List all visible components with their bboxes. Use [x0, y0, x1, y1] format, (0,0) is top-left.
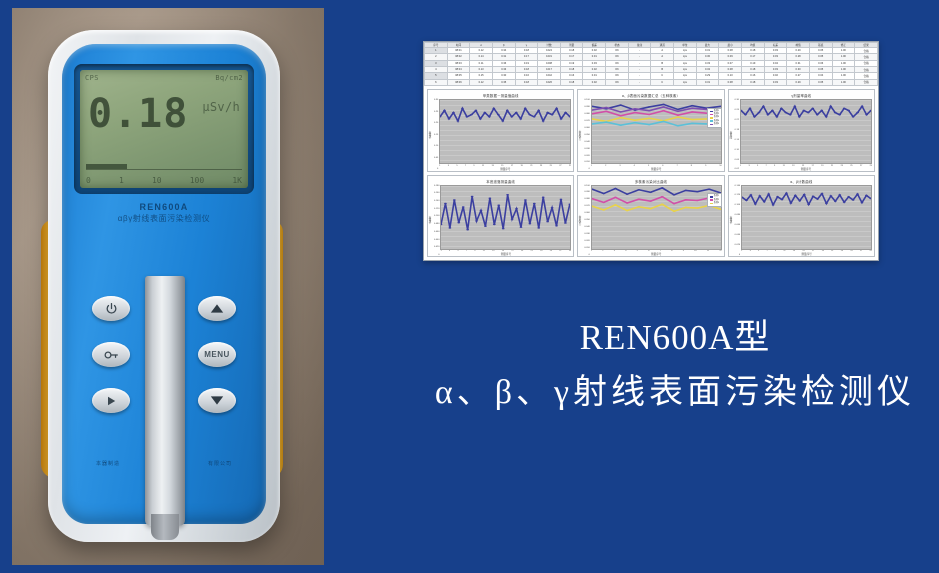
- chart-data-point: [785, 192, 788, 193]
- chart-data-point: [626, 209, 629, 210]
- chart-data-point: [564, 112, 567, 113]
- chart-x-axis-label: 测量序号: [740, 167, 872, 171]
- chart-data-point: [560, 198, 563, 199]
- table-cell: 0.05: [809, 79, 832, 85]
- chart-data-point: [834, 112, 837, 113]
- chart-y-tick: 0.080: [434, 223, 439, 225]
- chart-legend: 系列1系列2系列3: [707, 193, 722, 207]
- chart-data-point: [696, 190, 699, 191]
- device-mark-right: 有限公司: [208, 460, 232, 467]
- table-cell: 0.18: [741, 79, 764, 85]
- chart-y-tick: 0.30: [735, 99, 739, 101]
- chart-data-point: [602, 209, 605, 210]
- chart-data-point: [676, 109, 679, 110]
- chart-data-point: [458, 222, 461, 223]
- chart-data-point: [493, 223, 496, 224]
- chart-data-point: [649, 191, 652, 192]
- chart-y-tick: 0.040: [735, 234, 740, 236]
- chart-data-point: [502, 228, 505, 229]
- lcd-bargraph: [86, 165, 242, 170]
- chart-y-tick: 0.26: [735, 109, 739, 111]
- chart-data-point: [781, 198, 784, 199]
- chart-y-tick: 0.15: [434, 134, 438, 136]
- chart-series-line: [592, 117, 721, 121]
- chart-data-point: [649, 207, 652, 208]
- chart-data-point: [757, 112, 760, 113]
- chart-data-point: [648, 124, 651, 125]
- chart-data-point: [533, 116, 536, 117]
- chart-data-point: [619, 111, 622, 112]
- lcd-reading: 0.18: [88, 94, 188, 134]
- play-button[interactable]: [92, 388, 130, 413]
- chart-data-point: [533, 202, 536, 203]
- chart-y-tick: 0.100: [584, 99, 589, 101]
- up-button[interactable]: [198, 296, 236, 321]
- chart-data-point: [626, 193, 629, 194]
- chart-data-point: [691, 123, 694, 124]
- table-cell: cps: [674, 79, 697, 85]
- chart-y-tick: 0.080: [584, 113, 589, 115]
- lcd-screen: CPS Bq/cm2 0.18 μSv/h 0 1 10 100 1K: [80, 70, 248, 188]
- chart-data-point: [758, 195, 761, 196]
- chart-y-tick: 0: [434, 168, 438, 170]
- chart-y-tick: 0.060: [735, 224, 740, 226]
- chart-y-tick: 0.030: [584, 233, 589, 235]
- chart-plot-area: [591, 185, 722, 250]
- chart-data-point: [449, 227, 452, 228]
- chart-y-tick: 0.050: [584, 219, 589, 221]
- chart-y-tick: 0.20: [434, 122, 438, 124]
- chart-data-point: [763, 201, 766, 202]
- chart-data-point: [775, 116, 778, 117]
- device-photo: CPS Bq/cm2 0.18 μSv/h 0 1 10 100 1K REN6…: [12, 8, 324, 565]
- lcd-scale-tick: 0: [86, 176, 91, 185]
- chart-data-point: [484, 112, 487, 113]
- chart-bottom-left: 本底涨落测量曲线计数率0.1800.1600.1400.1200.1000.08…: [427, 175, 574, 258]
- chart-data-point: [830, 195, 833, 196]
- table-body: 108:010.120.340.1810240.180.02OK-Acps0.3…: [425, 48, 878, 86]
- software-screenshot-panel: 序号时间αβγ计数剂量偏差状态备注通道单位最大最小均值标差峰值基底修正结果 10…: [423, 41, 879, 261]
- chart-data-point: [662, 110, 665, 111]
- chart-data-point: [555, 108, 558, 109]
- chart-data-point: [633, 122, 636, 123]
- chart-data-point: [852, 116, 855, 117]
- chart-x-axis-label: 测量序号: [591, 252, 722, 256]
- chart-data-point: [672, 210, 675, 211]
- chart-data-point: [493, 108, 496, 109]
- chart-data-point: [506, 110, 509, 111]
- chart-data-point: [614, 187, 617, 188]
- chart-y-axis-label: 计数率: [429, 131, 433, 139]
- chart-legend-swatch: [710, 196, 713, 198]
- lcd-bezel: CPS Bq/cm2 0.18 μSv/h 0 1 10 100 1K: [74, 64, 254, 194]
- chart-y-tick: 0.020: [434, 246, 439, 248]
- caption-block: REN600A型 α、β、γ射线表面污染检测仪: [420, 316, 930, 416]
- lcd-scale-tick: 10: [152, 176, 162, 185]
- chart-y-tick: 0.06: [735, 159, 739, 161]
- chart-data-point: [780, 108, 783, 109]
- table-cell: 08:06: [447, 79, 470, 85]
- chart-data-point: [529, 223, 532, 224]
- chart-data-point: [766, 114, 769, 115]
- chart-data-point: [772, 204, 775, 205]
- chart-series-line: [441, 194, 570, 229]
- chart-y-tick: 0.080: [735, 214, 740, 216]
- chart-data-point: [661, 196, 664, 197]
- chart-data-point: [662, 121, 665, 122]
- chart-y-tick: 0.060: [584, 127, 589, 129]
- chart-series-line: [592, 196, 721, 203]
- chart-data-point: [547, 221, 550, 222]
- chart-data-point: [684, 189, 687, 190]
- chart-data-point: [803, 193, 806, 194]
- chart-top-right: γ剂量率曲线剂量率0.300.260.220.180.140.100.060.0…: [728, 89, 875, 172]
- chart-data-point: [676, 125, 679, 126]
- chart-data-point: [829, 106, 832, 107]
- chart-data-point: [516, 208, 519, 209]
- table-cell: 0.31: [696, 79, 719, 85]
- product-description-title: α、β、γ射线表面污染检测仪: [420, 370, 930, 416]
- table-cell: 0.18: [560, 79, 583, 85]
- chart-y-tick: 0.080: [584, 198, 589, 200]
- table-cell: 6: [425, 79, 448, 85]
- chart-y-tick: 0.020: [584, 155, 589, 157]
- chart-data-point: [471, 195, 474, 196]
- chart-data-point: [551, 114, 554, 115]
- chart-x-axis-label: 测量序号: [741, 252, 872, 256]
- chart-data-point: [542, 120, 545, 121]
- chart-y-tick: 0.060: [584, 212, 589, 214]
- chart-y-tick: 0.25: [434, 111, 438, 113]
- chart-y-tick: 0.22: [735, 119, 739, 121]
- chart-data-point: [648, 114, 651, 115]
- table-cell: OK: [606, 79, 629, 85]
- chart-data-point: [812, 195, 815, 196]
- device-model-text: REN600A: [64, 202, 264, 212]
- chart-legend-swatch: [710, 124, 713, 126]
- chart-plot-area: [740, 99, 872, 164]
- chart-plot-area: [439, 99, 571, 164]
- chart-data-point: [662, 106, 665, 107]
- chart-y-tick: 0.02: [735, 168, 739, 170]
- power-icon: [105, 302, 118, 315]
- chart-data-point: [802, 110, 805, 111]
- chart-data-point: [498, 204, 501, 205]
- chart-data-point: [605, 107, 608, 108]
- chart-data-point: [466, 116, 469, 117]
- chart-data-point: [626, 202, 629, 203]
- chart-data-point: [633, 108, 636, 109]
- device-label-chinese: αβγ射线表面污染检测仪: [64, 213, 264, 224]
- chart-data-point: [672, 194, 675, 195]
- device-mark-left: 本器制造: [96, 460, 120, 467]
- chart-data-point: [753, 116, 756, 117]
- chart-y-tick: 0.070: [584, 205, 589, 207]
- chart-legend-item: 系列3: [710, 202, 720, 205]
- chart-data-point: [684, 206, 687, 207]
- chart-y-tick: 0.120: [434, 208, 439, 210]
- key-icon: [104, 349, 119, 361]
- table-cell: 合格: [855, 79, 878, 85]
- table-cell: 1.00: [832, 79, 855, 85]
- chart-data-point: [762, 106, 765, 107]
- chart-data-point: [825, 202, 828, 203]
- chart-data-point: [847, 110, 850, 111]
- chart-data-point: [520, 118, 523, 119]
- lcd-top-row: CPS Bq/cm2: [85, 74, 243, 82]
- chart-data-point: [838, 114, 841, 115]
- chart-data-point: [798, 116, 801, 117]
- table-cell: 0.12: [470, 79, 493, 85]
- chart-data-point: [619, 125, 622, 126]
- chart-legend-item: 系列5: [710, 123, 720, 126]
- chart-data-point: [529, 114, 532, 115]
- chart-data-point: [807, 203, 810, 204]
- chart-y-tick: 0.180: [434, 185, 439, 187]
- chart-data-point: [538, 110, 541, 111]
- chart-y-tick: 0.160: [434, 192, 439, 194]
- chart-data-point: [633, 119, 636, 120]
- chart-data-point: [560, 118, 563, 119]
- chart-y-tick: 0.100: [735, 204, 740, 206]
- chart-data-point: [524, 199, 527, 200]
- chart-data-point: [771, 110, 774, 111]
- chart-data-point: [691, 119, 694, 120]
- chart-data-point: [821, 192, 824, 193]
- chart-legend-swatch: [710, 117, 713, 119]
- table-cell: 0.02: [583, 79, 606, 85]
- chart-data-point: [834, 200, 837, 201]
- chart-data-point: [865, 114, 868, 115]
- chart-data-point: [684, 199, 687, 200]
- measurement-data-table: 序号时间αβγ计数剂量偏差状态备注通道单位最大最小均值标差峰值基底修正结果 10…: [424, 42, 878, 86]
- chart-data-point: [793, 106, 796, 107]
- chart-data-point: [648, 118, 651, 119]
- chart-y-tick: 0.10: [735, 149, 739, 151]
- chart-data-point: [445, 202, 448, 203]
- chart-data-point: [691, 105, 694, 106]
- chart-data-point: [767, 193, 770, 194]
- chart-grid: 甲类数据－测量值曲线计数率0.300.250.200.150.100.05013…: [427, 89, 875, 257]
- chart-series-line: [742, 193, 871, 205]
- chart-data-point: [480, 209, 483, 210]
- chart-data-point: [856, 112, 859, 113]
- table-cell: 0.08: [719, 79, 742, 85]
- table-cell: C: [651, 79, 674, 85]
- chart-data-point: [789, 114, 792, 115]
- chart-y-tick: 0.070: [584, 120, 589, 122]
- chart-data-point: [602, 192, 605, 193]
- chart-legend: 系列1系列2系列3系列4系列5: [707, 108, 722, 128]
- chart-x-axis-label: 测量序号: [439, 167, 571, 171]
- chart-legend-swatch: [710, 203, 713, 205]
- chart-y-tick: 0.010: [584, 247, 589, 249]
- chart-y-tick: 0.050: [584, 134, 589, 136]
- power-button[interactable]: [92, 296, 130, 321]
- chart-data-point: [754, 203, 757, 204]
- chart-data-point: [696, 199, 699, 200]
- chart-data-point: [511, 218, 514, 219]
- table-cell: 1026: [538, 79, 561, 85]
- chart-data-point: [637, 189, 640, 190]
- lcd-scale-tick: 1: [119, 176, 124, 185]
- chart-y-tick: 0.030: [584, 148, 589, 150]
- chart-bottom-middle: 多核素污染对比曲线污染水平0.1000.0900.0800.0700.0600.…: [577, 175, 724, 258]
- chart-data-point: [691, 111, 694, 112]
- chart-data-point: [551, 207, 554, 208]
- chart-data-point: [794, 194, 797, 195]
- chart-data-point: [861, 106, 864, 107]
- chart-y-axis-label: 剂量率: [730, 131, 734, 139]
- chart-data-point: [524, 108, 527, 109]
- chart-data-point: [453, 199, 456, 200]
- chart-data-point: [838, 194, 841, 195]
- lcd-unit-indicator: Bq/cm2: [215, 74, 243, 82]
- chart-data-point: [798, 200, 801, 201]
- chart-data-point: [661, 187, 664, 188]
- chart-series-line: [592, 204, 721, 211]
- chart-data-point: [676, 111, 679, 112]
- chart-data-point: [605, 111, 608, 112]
- chart-data-point: [488, 116, 491, 117]
- chart-top-left: 甲类数据－测量值曲线计数率0.300.250.200.150.100.05013…: [427, 89, 574, 172]
- chart-y-axis-label: 污染水平: [579, 130, 583, 140]
- chart-data-point: [633, 112, 636, 113]
- chart-y-tick: 0.18: [735, 129, 739, 131]
- chart-data-point: [489, 197, 492, 198]
- chart-y-tick: 0.040: [434, 239, 439, 241]
- chart-y-tick: 0.140: [434, 200, 439, 202]
- chart-plot-area: [741, 185, 872, 250]
- chart-data-point: [672, 202, 675, 203]
- lamp-button[interactable]: [92, 342, 130, 367]
- chart-series-line: [592, 187, 721, 194]
- chart-data-point: [556, 225, 559, 226]
- chart-y-tick: 0: [584, 254, 589, 256]
- chart-y-tick: 0.020: [735, 244, 740, 246]
- chart-legend-label: 系列5: [714, 123, 720, 126]
- chart-bottom-right: α、β计数曲线计数率0.1400.1200.1000.0800.0600.040…: [728, 175, 875, 258]
- chart-legend-swatch: [710, 111, 713, 113]
- product-model-title: REN600A型: [420, 316, 930, 360]
- chart-data-point: [569, 203, 570, 204]
- chart-data-point: [852, 199, 855, 200]
- triangle-up-icon: [210, 303, 224, 314]
- chart-data-point: [648, 106, 651, 107]
- chart-data-point: [744, 114, 747, 115]
- chart-data-point: [476, 220, 479, 221]
- chart-top-middle: α、β表面污染数据汇总（五种核素）污染水平0.1000.0900.0800.07…: [577, 89, 724, 172]
- down-button[interactable]: [198, 388, 236, 413]
- chart-data-point: [696, 207, 699, 208]
- chart-data-point: [825, 116, 828, 117]
- lcd-scale-tick: 100: [190, 176, 204, 185]
- chart-data-point: [452, 112, 455, 113]
- chart-y-tick: 0.14: [735, 139, 739, 141]
- table-cell: -: [628, 79, 651, 85]
- chart-y-tick: 0: [735, 254, 740, 256]
- chart-x-axis-label: 测量序号: [440, 252, 571, 256]
- chart-data-point: [542, 196, 545, 197]
- chart-data-point: [648, 110, 651, 111]
- chart-data-point: [443, 110, 446, 111]
- chart-data-point: [564, 222, 567, 223]
- chart-data-point: [856, 193, 859, 194]
- chart-data-point: [708, 188, 711, 189]
- chart-y-tick: 0.120: [735, 194, 740, 196]
- chart-data-point: [470, 114, 473, 115]
- chart-data-point: [843, 201, 846, 202]
- chart-data-point: [676, 114, 679, 115]
- chart-y-axis-label: 计数率: [429, 216, 433, 224]
- chart-plot-area: [591, 99, 722, 164]
- chart-data-point: [457, 120, 460, 121]
- triangle-down-icon: [210, 395, 224, 406]
- chart-series-line: [592, 121, 721, 125]
- chart-y-tick: 0.30: [434, 99, 438, 101]
- lcd-scale-tick: 1K: [232, 176, 242, 185]
- table-cell: 0.35: [492, 79, 515, 85]
- chart-legend-swatch: [710, 114, 713, 116]
- chart-data-point: [502, 120, 505, 121]
- chart-y-tick: 0.020: [584, 240, 589, 242]
- chart-y-tick: 0.140: [735, 185, 740, 187]
- play-icon: [105, 395, 117, 407]
- chart-y-tick: 0: [584, 168, 589, 170]
- chart-data-point: [649, 200, 652, 201]
- table-cell: 0.18: [515, 79, 538, 85]
- chart-data-point: [816, 198, 819, 199]
- chart-data-point: [861, 201, 864, 202]
- chart-data-point: [441, 223, 442, 224]
- chart-data-point: [637, 206, 640, 207]
- chart-data-point: [784, 112, 787, 113]
- chart-data-point: [807, 112, 810, 113]
- table-row: 608:060.120.350.1810260.180.02OK-Ccps0.3…: [425, 79, 878, 85]
- lcd-scale: 0 1 10 100 1K: [86, 176, 242, 185]
- chart-data-point: [816, 114, 819, 115]
- chart-data-point: [461, 108, 464, 109]
- chart-data-point: [865, 194, 868, 195]
- menu-button[interactable]: MENU: [198, 342, 236, 367]
- chart-series-line: [592, 111, 721, 116]
- chart-data-point: [843, 108, 846, 109]
- table-cell: 0.03: [764, 79, 787, 85]
- chart-data-point: [511, 116, 514, 117]
- chart-data-point: [691, 107, 694, 108]
- chart-data-point: [479, 118, 482, 119]
- chart-y-tick: 0.010: [584, 161, 589, 163]
- chart-data-point: [484, 225, 487, 226]
- chart-data-point: [475, 110, 478, 111]
- chart-data-point: [619, 115, 622, 116]
- chart-y-tick: 0.090: [584, 191, 589, 193]
- chart-data-point: [515, 112, 518, 113]
- chart-data-point: [619, 117, 622, 118]
- table-cell: 0.29: [787, 79, 810, 85]
- lcd-reading-unit: μSv/h: [202, 100, 240, 114]
- device-label: REN600A αβγ射线表面污染检测仪: [64, 202, 264, 224]
- chart-y-tick: 0.090: [584, 106, 589, 108]
- chart-data-point: [462, 206, 465, 207]
- chart-y-tick: 0.040: [584, 226, 589, 228]
- chart-data-point: [637, 198, 640, 199]
- lcd-bargraph-fill: [86, 164, 127, 169]
- chart-y-tick: 0.05: [434, 157, 438, 159]
- chart-y-tick: 0.100: [584, 185, 589, 187]
- chart-data-point: [448, 118, 451, 119]
- chart-data-point: [602, 201, 605, 202]
